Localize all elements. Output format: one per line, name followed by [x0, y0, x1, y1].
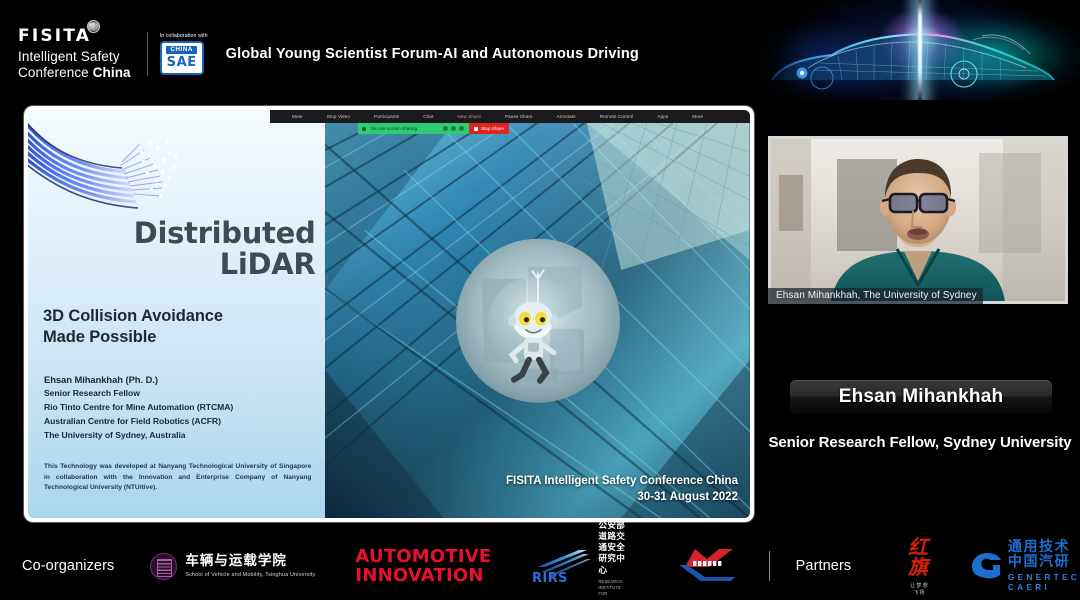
slide-title-line-2: LiDAR	[42, 249, 315, 280]
sae-badge: CHINA SAE	[160, 41, 204, 75]
page-title: Global Young Scientist Forum-AI and Auto…	[226, 46, 639, 62]
svg-text:RIRS: RIRS	[532, 571, 568, 583]
author-name: Ehsan Mihankhah (Ph. D.)	[44, 372, 317, 387]
share-control-icon-3[interactable]	[459, 126, 464, 131]
slide-title: Distributed LiDAR	[42, 218, 315, 279]
china-its-roof-icon	[675, 547, 741, 585]
slide-subtitle-line-2: Made Possible	[43, 327, 315, 348]
slide-caption-line-2: 30-31 August 2022	[506, 489, 738, 506]
header-bar: FISITA Intelligent Safety Conference Chi…	[0, 0, 1080, 100]
brand-lockup: FISITA Intelligent Safety Conference Chi…	[18, 28, 639, 79]
author-affiliation-2: Australian Centre for Field Robotics (AC…	[44, 415, 317, 429]
toolbar-annotate[interactable]: Annotate	[545, 114, 588, 119]
tsinghua-cn-name: 车辆与运载学院	[185, 554, 315, 568]
toolbar-remote-control[interactable]: Remote Control	[588, 114, 646, 119]
logo-rirs: RIRS 公安部道路交通安全研究中心 RESEARCH INSTITUTE FO…	[531, 521, 629, 600]
stop-share-label: Stop Share	[481, 126, 504, 131]
slide-subtitle: 3D Collision Avoidance Made Possible	[43, 306, 315, 348]
logo-genertec-caeri: 通用技术中国汽研 GENERTEC CAERI	[970, 540, 1080, 591]
fisita-wordmark: FISITA	[18, 26, 91, 46]
slide-caption: FISITA Intelligent Safety Conference Chi…	[506, 473, 738, 506]
fisita-line-3-bold: China	[93, 65, 131, 80]
rirs-mark-icon: RIRS	[531, 549, 593, 583]
neon-fade-mask	[750, 0, 802, 100]
fisita-line-3: Conference China	[18, 66, 131, 80]
toolbar-new-share[interactable]: New Share	[445, 114, 493, 119]
share-status-text: You are screen sharing	[370, 126, 417, 131]
logo-hongqi: 红旗 让梦想飞扬	[907, 537, 932, 596]
speaker-role: Senior Research Fellow, Sydney Universit…	[760, 434, 1080, 451]
share-control-icon-1[interactable]	[443, 126, 448, 131]
slide-left-panel: Distributed LiDAR 3D Collision Avoidance…	[28, 110, 325, 518]
slide-caption-line-1: FISITA Intelligent Safety Conference Chi…	[506, 473, 738, 490]
share-mini-controls[interactable]	[443, 126, 464, 131]
neon-car-graphic	[750, 0, 1080, 100]
logo-automotive-innovation: AUTOMOTIVE INNOVATION	[355, 548, 491, 585]
author-affiliation-3: The University of Sydney, Australia	[44, 429, 317, 443]
cartoon-robot-in-portal-icon	[454, 237, 622, 405]
fisita-line-3-normal: Conference	[18, 65, 93, 80]
hongqi-cn-name: 红旗	[907, 537, 932, 577]
toolbar-pause-share[interactable]: Pause Share	[493, 114, 545, 119]
neon-light-beam	[918, 0, 922, 100]
sae-label: SAE	[167, 56, 197, 69]
share-status-dot-icon	[362, 127, 366, 131]
share-control-icon-2[interactable]	[451, 126, 456, 131]
screen-sharing-banner: You are screen sharing	[358, 123, 469, 134]
toolbar-chat[interactable]: Chat	[411, 114, 445, 119]
tsinghua-seal-icon	[150, 553, 177, 580]
slide-title-line-1: Distributed	[42, 218, 315, 249]
presentation-slide: Distributed LiDAR 3D Collision Avoidance…	[28, 110, 750, 518]
screen-share-status-bar: You are screen sharing Stop Share	[358, 123, 509, 134]
shared-screen-frame: Distributed LiDAR 3D Collision Avoidance…	[24, 106, 754, 522]
globe-icon	[87, 20, 100, 33]
logo-tsinghua-svm: 车辆与运载学院 School of Vehicle and Mobility, …	[150, 553, 315, 580]
author-affiliation-1: Rio Tinto Centre for Mine Automation (RT…	[44, 401, 317, 415]
zoom-meeting-toolbar[interactable]: Mute Stop Video Participants Chat New Sh…	[270, 110, 750, 123]
collaboration-label: In collaboration with	[160, 33, 208, 39]
toolbar-participants[interactable]: Participants	[362, 114, 411, 119]
header-divider	[147, 32, 148, 76]
caeri-cn-name: 通用技术中国汽研	[1008, 540, 1080, 569]
rirs-cn-name: 公安部道路交通安全研究中心	[598, 521, 629, 577]
speaker-name: Ehsan Mihankhah	[839, 386, 1004, 408]
neon-car-silhouette	[768, 28, 1058, 90]
webcam-participant-video-icon	[771, 139, 1065, 301]
speaker-name-banner: Ehsan Mihankhah	[790, 380, 1052, 414]
automotive-innovation-line-2: INNOVATION	[355, 567, 491, 585]
sae-china-label: CHINA	[166, 46, 197, 54]
stop-share-button[interactable]: Stop Share	[469, 123, 509, 134]
genertec-g-icon	[970, 551, 1002, 581]
fisita-logo: FISITA Intelligent Safety Conference Chi…	[18, 28, 131, 79]
video-nameplate: Ehsan Mihankhah, The University of Sydne…	[768, 288, 983, 304]
slide-subtitle-line-1: 3D Collision Avoidance	[43, 306, 315, 327]
slide-right-panel: FISITA Intelligent Safety Conference Chi…	[325, 110, 750, 518]
author-title: Senior Research Fellow	[44, 387, 317, 401]
toolbar-stop-video[interactable]: Stop Video	[315, 114, 362, 119]
fisita-line-2: Intelligent Safety	[18, 50, 131, 64]
caeri-en-name: GENERTEC CAERI	[1008, 572, 1080, 592]
slide-footnote: This Technology was developed at Nanyang…	[44, 462, 311, 494]
china-sae-logo: In collaboration with CHINA SAE	[160, 33, 208, 75]
toolbar-apps[interactable]: Apps	[645, 114, 680, 119]
partners-label: Partners	[796, 558, 852, 574]
toolbar-mute[interactable]: Mute	[280, 114, 315, 119]
toolbar-more[interactable]: More	[680, 114, 715, 119]
rirs-en-line-1: RESEARCH INSTITUTE FOR	[598, 579, 629, 597]
conference-broadcast-screen: FISITA Intelligent Safety Conference Chi…	[0, 0, 1080, 600]
slide-author-block: Ehsan Mihankhah (Ph. D.) Senior Research…	[44, 372, 317, 443]
automotive-innovation-line-1: AUTOMOTIVE	[355, 548, 491, 566]
logo-china-its	[675, 547, 741, 585]
fiber-optic-bundle-icon	[28, 110, 217, 224]
sponsor-footer: Co-organizers 车辆与运载学院 School of Vehicle …	[0, 532, 1080, 600]
tsinghua-en-name: School of Vehicle and Mobility, Tsinghua…	[185, 572, 315, 578]
hongqi-tagline: 让梦想飞扬	[907, 582, 932, 596]
co-organizers-label: Co-organizers	[22, 558, 114, 574]
participant-video-tile[interactable]: Ehsan Mihankhah, The University of Sydne…	[768, 136, 1068, 304]
stop-icon	[474, 127, 478, 131]
footer-separator	[769, 551, 770, 581]
